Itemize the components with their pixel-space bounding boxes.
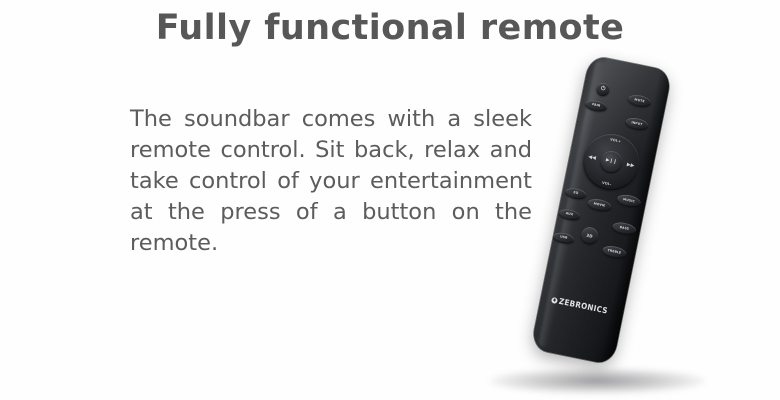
volume-down-label[interactable]: VOL- <box>602 181 612 187</box>
play-pause-icon: ▶❙❙ <box>605 158 617 165</box>
pair-button[interactable]: PAIR <box>584 99 608 113</box>
usb-button[interactable]: USB <box>552 231 574 244</box>
previous-track-icon[interactable]: ◀◀ <box>588 155 597 161</box>
volume-up-label[interactable]: VOL+ <box>610 137 622 143</box>
power-button[interactable]: ⏻ <box>595 82 610 97</box>
play-pause-button[interactable]: ▶❙❙ <box>598 149 624 175</box>
treble-button[interactable]: TREBLE <box>601 244 627 260</box>
brand-logo: ZEBRONICS <box>551 295 609 315</box>
input-button[interactable]: INPUT <box>624 116 649 131</box>
music-mode-button[interactable]: MUSIC <box>616 193 642 209</box>
eq-button[interactable]: EQ <box>565 187 587 200</box>
three-d-sound-button[interactable]: 3D <box>580 226 600 246</box>
next-track-icon[interactable]: ▶▶ <box>626 163 635 169</box>
navigation-dpad[interactable]: VOL+ VOL- ◀◀ ▶▶ ▶❙❙ <box>578 129 644 195</box>
body-edge-shade <box>600 69 673 366</box>
body-description: The soundbar comes with a sleek remote c… <box>130 104 532 259</box>
movie-mode-button[interactable]: MOVIE <box>587 197 613 213</box>
zebronics-mark-icon <box>551 296 558 303</box>
remote-body: ⏻ PAIR MUTE INPUT VOL+ VOL- ◀◀ ▶▶ ▶❙❙ EQ… <box>530 55 672 366</box>
mute-button[interactable]: MUTE <box>627 93 652 108</box>
bass-button[interactable]: BASS <box>611 221 637 237</box>
promo-banner: Fully functional remote The soundbar com… <box>0 0 780 400</box>
brand-name: ZEBRONICS <box>558 296 609 316</box>
aux-button[interactable]: AUX <box>558 208 580 221</box>
page-title: Fully functional remote <box>0 8 780 48</box>
remote-control-image: ⏻ PAIR MUTE INPUT VOL+ VOL- ◀◀ ▶▶ ▶❙❙ EQ… <box>485 38 735 389</box>
